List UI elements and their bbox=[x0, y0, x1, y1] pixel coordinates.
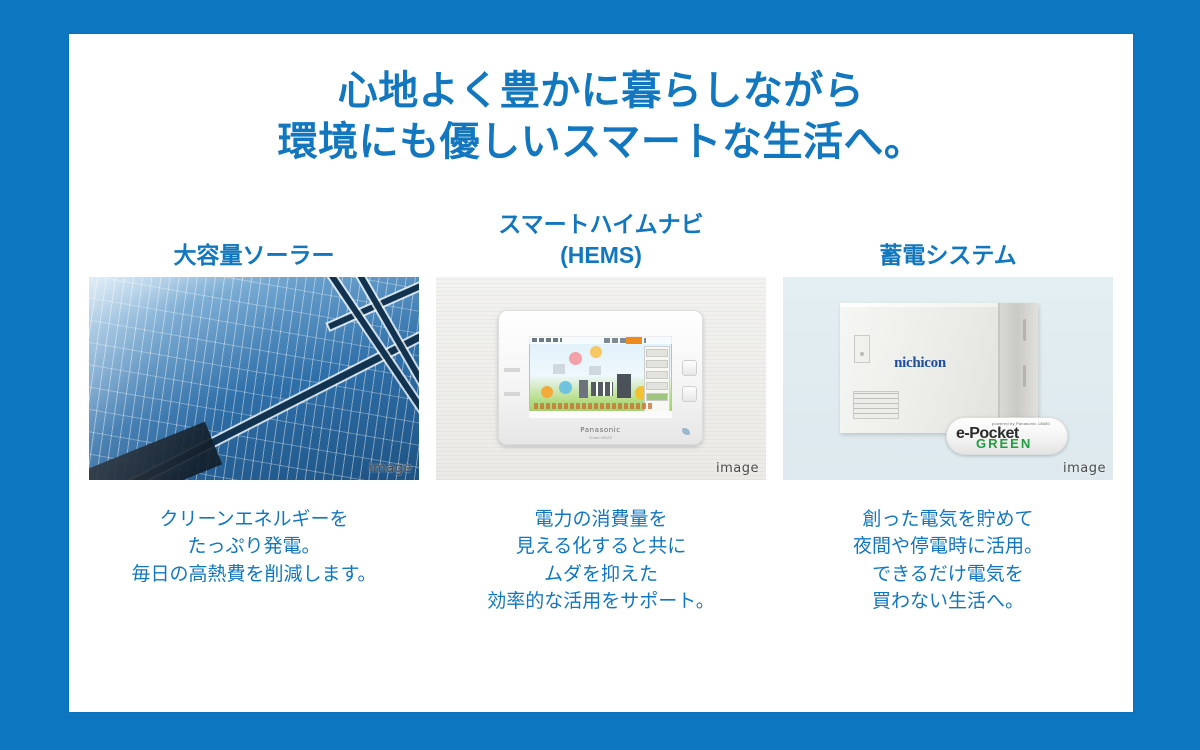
battery-brand-logo: nichicon bbox=[840, 355, 1000, 372]
battery-mount-hook bbox=[1023, 365, 1026, 387]
column-caption-solar: クリーンエネルギーを たっぷり発電。 毎日の高熱費を削減します。 bbox=[131, 506, 376, 588]
hems-status-left bbox=[532, 338, 562, 342]
feature-column-battery: 蓄電システム nichicon powered by Panasonic 186… bbox=[783, 209, 1113, 616]
feature-column-hems: スマートハイムナビ (HEMS) bbox=[436, 209, 766, 616]
hems-screen bbox=[529, 336, 672, 418]
headline-line-2: 環境にも優しいスマートな生活へ。 bbox=[69, 117, 1133, 168]
column-title-battery: 蓄電システム bbox=[879, 209, 1016, 277]
column-caption-hems: 電力の消費量を 見える化すると共に ムダを抑えた 効率的な活用をサポート。 bbox=[487, 506, 715, 615]
battery-spec-label bbox=[853, 391, 899, 419]
hems-meter-strip bbox=[591, 382, 613, 396]
image-watermark: image bbox=[1063, 461, 1106, 476]
hems-tile-b bbox=[589, 366, 601, 375]
column-caption-battery: 創った電気を貯めて 夜間や停電時に活用。 できるだけ電気を 買わない生活へ。 bbox=[853, 506, 1043, 615]
battery-side-column bbox=[1000, 303, 1038, 433]
feature-column-solar: 大容量ソーラー image クリーンエネルギーを たっぷり発電。 毎日の高熱費を… bbox=[89, 209, 419, 616]
hems-menu-item-active bbox=[646, 393, 668, 401]
hems-menu-item bbox=[646, 371, 668, 379]
hems-monitor-photo: Panasonic Smart HEMS image bbox=[436, 277, 766, 480]
hems-left-button-2 bbox=[504, 392, 520, 396]
battery-mount-hook bbox=[1023, 319, 1026, 341]
hems-menu-item bbox=[646, 349, 668, 357]
e-pocket-badge: powered by Panasonic 18650 e-Pocket GREE… bbox=[946, 417, 1068, 455]
hems-tile-a bbox=[553, 364, 565, 374]
hems-icon-gas bbox=[541, 386, 553, 398]
hems-right-button-1 bbox=[682, 360, 697, 376]
hems-alert-chip bbox=[626, 337, 642, 344]
column-title-solar: 大容量ソーラー bbox=[174, 209, 335, 277]
hems-model-label: Smart HEMS bbox=[498, 435, 703, 440]
hems-wall-unit: Panasonic Smart HEMS bbox=[498, 310, 703, 445]
solar-sheen bbox=[89, 277, 419, 480]
hems-right-button-2 bbox=[682, 386, 697, 402]
hems-icon-water bbox=[559, 381, 572, 394]
hems-brand-label: Panasonic bbox=[498, 426, 703, 434]
hems-icon-power bbox=[569, 352, 582, 365]
image-watermark: image bbox=[369, 461, 412, 476]
hems-left-button-1 bbox=[504, 368, 520, 372]
headline-line-1: 心地よく豊かに暮らしながら bbox=[69, 66, 1133, 117]
page-headline: 心地よく豊かに暮らしながら 環境にも優しいスマートな生活へ。 bbox=[69, 34, 1133, 168]
image-watermark: image bbox=[716, 461, 759, 476]
hems-appliance bbox=[617, 374, 631, 398]
hems-house-unit bbox=[579, 380, 588, 398]
solar-panel-photo: image bbox=[89, 277, 419, 480]
hems-message-ticker bbox=[534, 403, 654, 409]
column-title-hems: スマートハイムナビ (HEMS) bbox=[498, 209, 703, 277]
hems-menu-item bbox=[646, 360, 668, 368]
feature-columns: 大容量ソーラー image クリーンエネルギーを たっぷり発電。 毎日の高熱費を… bbox=[69, 209, 1133, 616]
badge-subtitle: GREEN bbox=[976, 436, 1032, 451]
content-panel: 心地よく豊かに暮らしながら 環境にも優しいスマートな生活へ。 大容量ソーラー i… bbox=[68, 33, 1134, 713]
battery-system-photo: nichicon powered by Panasonic 18650 e-Po… bbox=[783, 277, 1113, 480]
hems-menu-item bbox=[646, 382, 668, 390]
battery-unit: nichicon bbox=[840, 303, 1038, 433]
hems-screen-footer bbox=[529, 411, 672, 418]
hems-icon-sun bbox=[590, 346, 602, 358]
